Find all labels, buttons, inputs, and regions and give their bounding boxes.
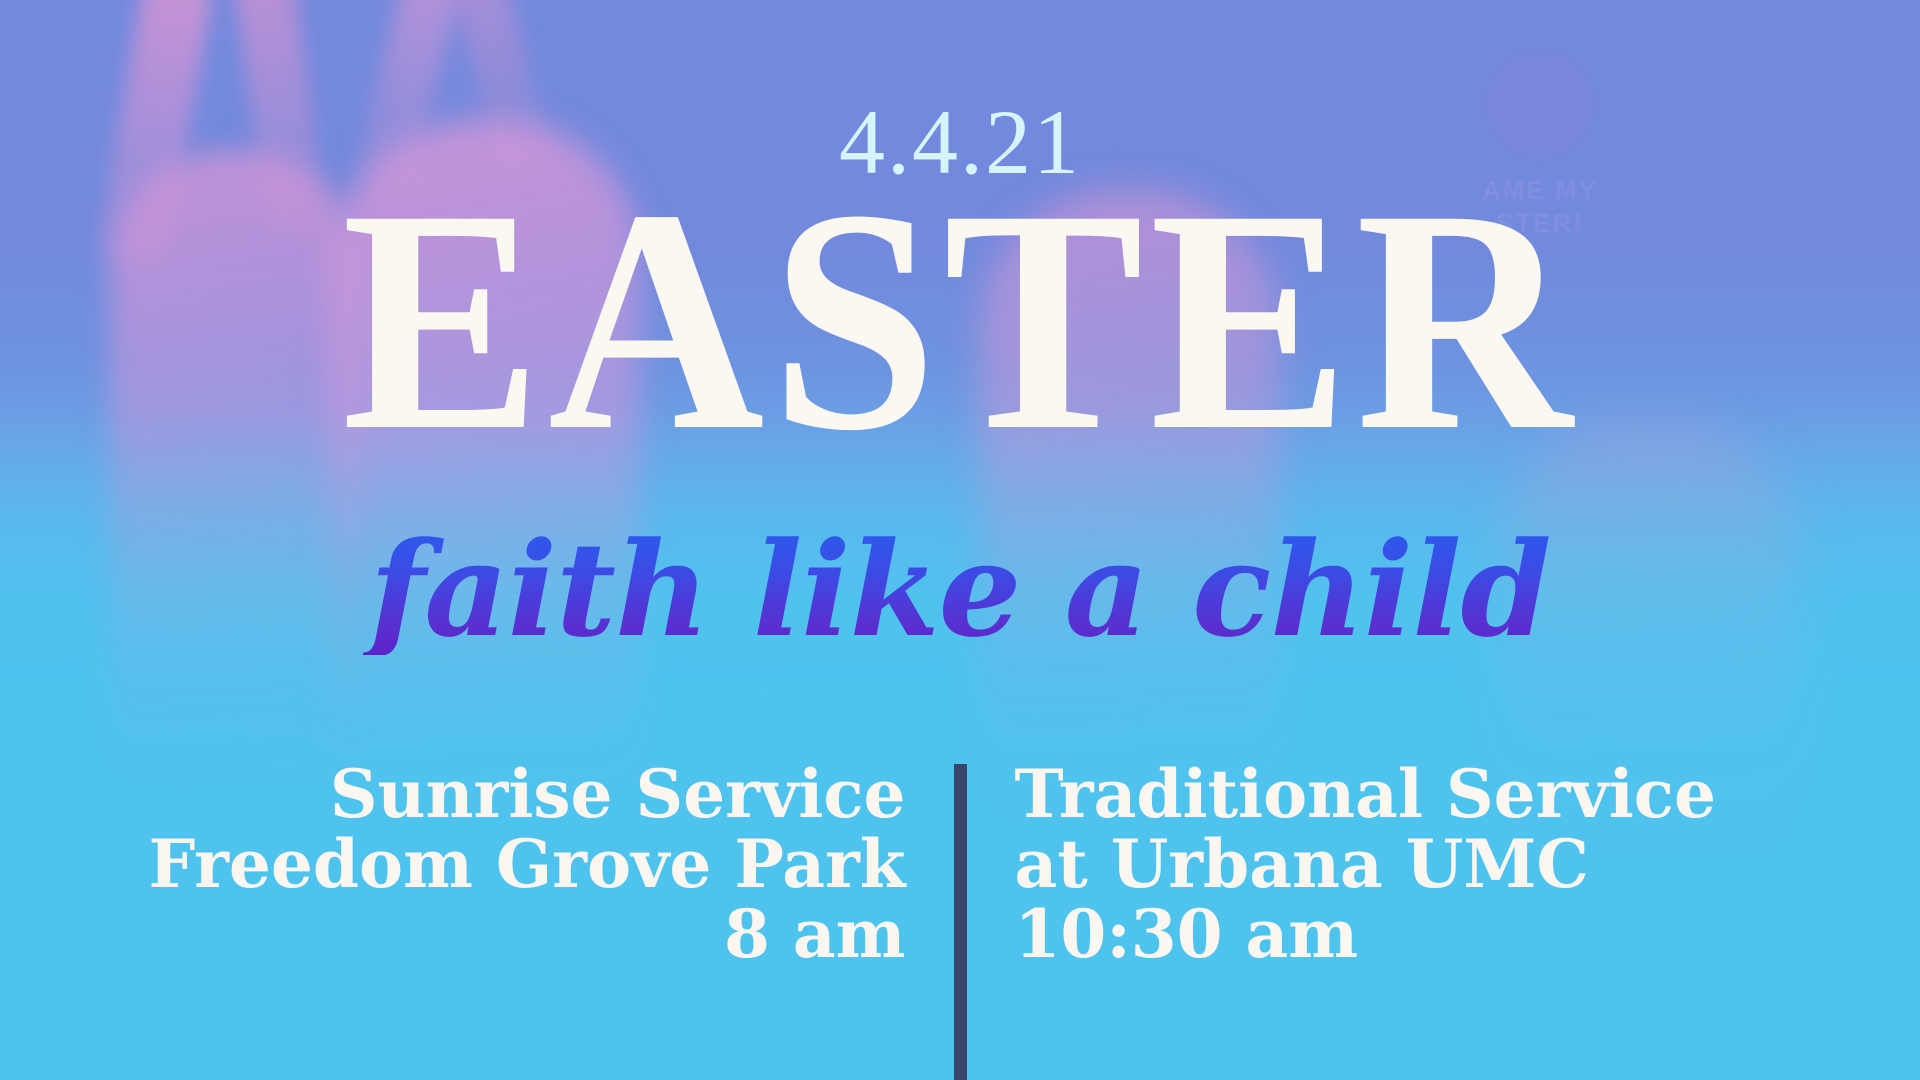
service-name: Sunrise Service	[36, 760, 906, 830]
service-location: Freedom Grove Park	[36, 830, 906, 900]
service-block-traditional: Traditional Service at Urbana UMC 10:30 …	[967, 760, 1885, 970]
poster-content: 4.4.21 EASTER faith like a child Sunrise…	[0, 0, 1920, 1080]
service-details: Sunrise Service Freedom Grove Park 8 am …	[0, 760, 1920, 1080]
service-name: Traditional Service	[1015, 760, 1885, 830]
service-time: 10:30 am	[1015, 900, 1885, 970]
easter-announcement-graphic: AME MY STER! 4.4.21 EASTER faith like a …	[0, 0, 1920, 1080]
vertical-divider	[954, 764, 967, 1080]
service-time: 8 am	[36, 900, 906, 970]
service-location: at Urbana UMC	[1015, 830, 1885, 900]
service-block-sunrise: Sunrise Service Freedom Grove Park 8 am	[36, 760, 954, 970]
tagline: faith like a child	[0, 525, 1920, 655]
page-title: EASTER	[0, 169, 1920, 471]
